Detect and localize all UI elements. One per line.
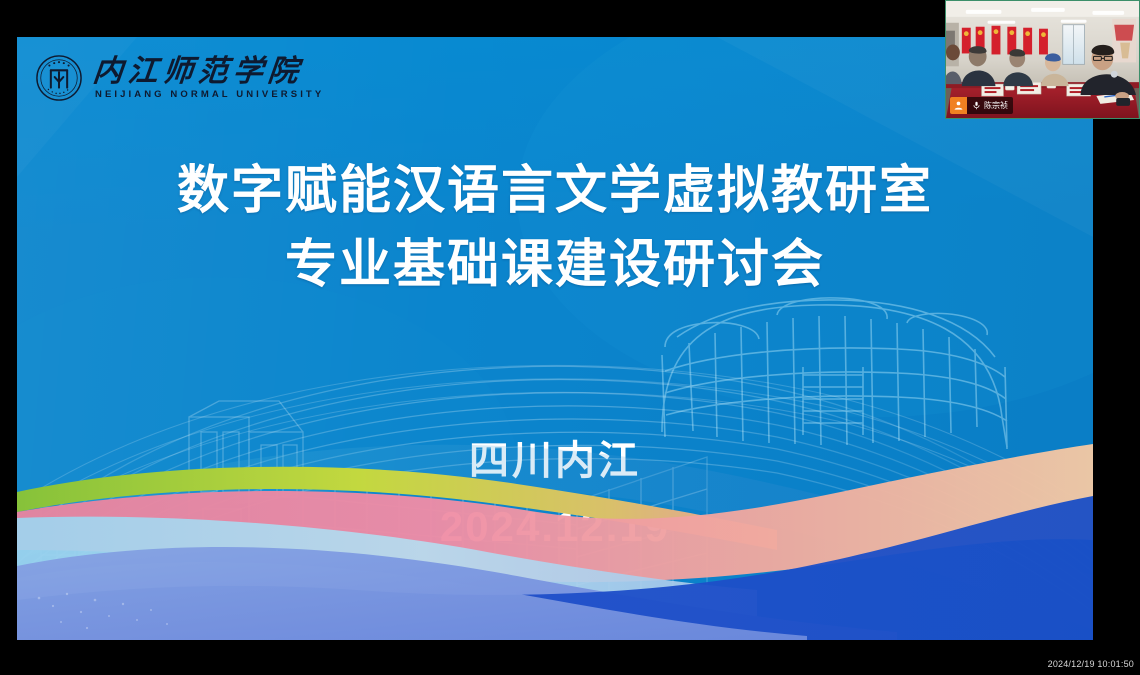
title-line-2: 专业基础课建设研讨会 <box>17 229 1093 303</box>
recording-timestamp: 2024/12/19 10:01:50 <box>1048 659 1134 669</box>
screen-root: 内江师范学院 NEIJIANG NORMAL UNIVERSITY 数字赋能汉语… <box>0 0 1140 675</box>
person-icon <box>950 97 967 114</box>
participant-name-bar: 陈宗祯 <box>950 97 1013 114</box>
subtitle-date: 2024.12.19 <box>17 499 1093 556</box>
subtitle-place: 四川内江 <box>17 435 1093 487</box>
video-participant-tile[interactable]: 陈宗祯 <box>945 0 1140 119</box>
university-seal-icon <box>35 54 83 102</box>
logo-wordmark: 内江师范学院 NEIJIANG NORMAL UNIVERSITY <box>93 56 324 101</box>
slide-subtitle: 四川内江 2024.12.19 <box>17 435 1093 556</box>
university-logo: 内江师范学院 NEIJIANG NORMAL UNIVERSITY <box>35 54 324 102</box>
logo-chinese-name: 内江师范学院 <box>91 56 326 88</box>
microphone-icon <box>967 100 983 111</box>
slide-title: 数字赋能汉语言文学虚拟教研室 专业基础课建设研讨会 <box>17 155 1093 303</box>
presentation-slide: 内江师范学院 NEIJIANG NORMAL UNIVERSITY 数字赋能汉语… <box>17 37 1093 640</box>
title-line-1: 数字赋能汉语言文学虚拟教研室 <box>17 155 1093 229</box>
logo-english-name: NEIJIANG NORMAL UNIVERSITY <box>93 89 324 100</box>
participant-name: 陈宗祯 <box>983 97 1013 114</box>
